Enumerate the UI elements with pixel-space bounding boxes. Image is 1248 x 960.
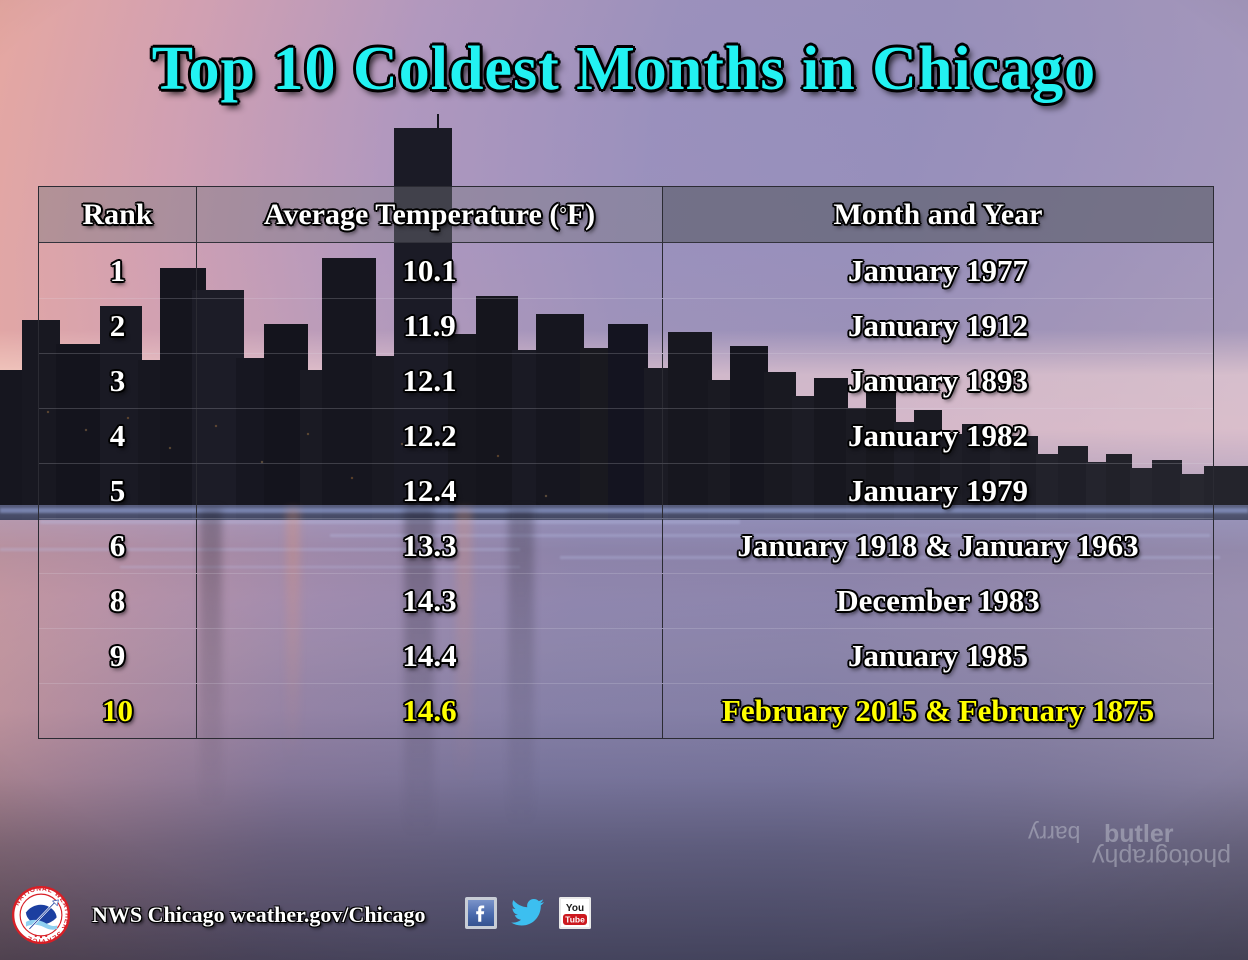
cell-month-year: February 2015 & February 1875 xyxy=(663,684,1213,738)
column-header-temperature: Average Temperature (°F) xyxy=(196,187,663,242)
table-row: 512.4January 1979 xyxy=(39,463,1213,518)
nws-logo: NATIONAL WEATHER SERVICE xyxy=(12,886,70,944)
table-header-row: Rank Average Temperature (°F) Month and … xyxy=(39,187,1213,243)
cell-temperature: 14.6 xyxy=(196,684,663,738)
cell-temperature: 10.1 xyxy=(196,243,663,298)
cell-rank: 8 xyxy=(39,574,196,628)
cell-temperature: 12.2 xyxy=(196,409,663,463)
cell-rank: 4 xyxy=(39,409,196,463)
table-row: 312.1January 1893 xyxy=(39,353,1213,408)
column-header-temperature-text: Average Temperature ( xyxy=(264,198,559,232)
cell-month-year: December 1983 xyxy=(663,574,1213,628)
table-row: 814.3December 1983 xyxy=(39,573,1213,628)
footer-agency-text: NWS Chicago weather.gov/Chicago xyxy=(92,902,425,928)
table-row: 110.1January 1977 xyxy=(39,243,1213,298)
slide-canvas: Top 10 Coldest Months in Chicago Rank Av… xyxy=(0,0,1248,960)
table-row: 613.3January 1918 & January 1963 xyxy=(39,518,1213,573)
cell-rank: 9 xyxy=(39,629,196,683)
page-title: Top 10 Coldest Months in Chicago xyxy=(0,34,1248,105)
table-body: 110.1January 1977211.9January 1912312.1J… xyxy=(39,243,1213,738)
cell-month-year: January 1977 xyxy=(663,243,1213,298)
cell-temperature: 13.3 xyxy=(196,519,663,573)
cell-month-year: January 1982 xyxy=(663,409,1213,463)
cell-month-year: January 1979 xyxy=(663,464,1213,518)
youtube-icon[interactable]: You Tube xyxy=(559,897,591,934)
cell-rank: 3 xyxy=(39,354,196,408)
svg-text:Tube: Tube xyxy=(566,914,586,924)
column-header-rank: Rank xyxy=(39,187,196,242)
cell-temperature: 12.1 xyxy=(196,354,663,408)
twitter-icon[interactable] xyxy=(511,898,545,933)
column-header-temperature-suffix: F) xyxy=(567,198,595,232)
social-links: You Tube xyxy=(465,897,591,934)
facebook-icon[interactable] xyxy=(465,897,497,934)
cell-month-year: January 1893 xyxy=(663,354,1213,408)
cell-month-year: January 1985 xyxy=(663,629,1213,683)
footer-bar: NATIONAL WEATHER SERVICE NWS Chicago wea… xyxy=(0,878,1248,952)
cell-rank: 2 xyxy=(39,299,196,353)
table-row: 914.4January 1985 xyxy=(39,628,1213,683)
table-row: 1014.6February 2015 & February 1875 xyxy=(39,683,1213,738)
cell-rank: 1 xyxy=(39,243,196,298)
column-header-month-and-year: Month and Year xyxy=(663,187,1213,242)
cell-temperature: 11.9 xyxy=(196,299,663,353)
cell-month-year: January 1918 & January 1963 xyxy=(663,519,1213,573)
cell-temperature: 14.3 xyxy=(196,574,663,628)
cell-rank: 10 xyxy=(39,684,196,738)
cell-temperature: 14.4 xyxy=(196,629,663,683)
table-row: 412.2January 1982 xyxy=(39,408,1213,463)
table-row: 211.9January 1912 xyxy=(39,298,1213,353)
cell-rank: 5 xyxy=(39,464,196,518)
degree-symbol-icon: ° xyxy=(559,204,566,226)
coldest-months-table: Rank Average Temperature (°F) Month and … xyxy=(38,186,1214,739)
cell-month-year: January 1912 xyxy=(663,299,1213,353)
svg-text:You: You xyxy=(566,903,584,914)
cell-rank: 6 xyxy=(39,519,196,573)
cell-temperature: 12.4 xyxy=(196,464,663,518)
